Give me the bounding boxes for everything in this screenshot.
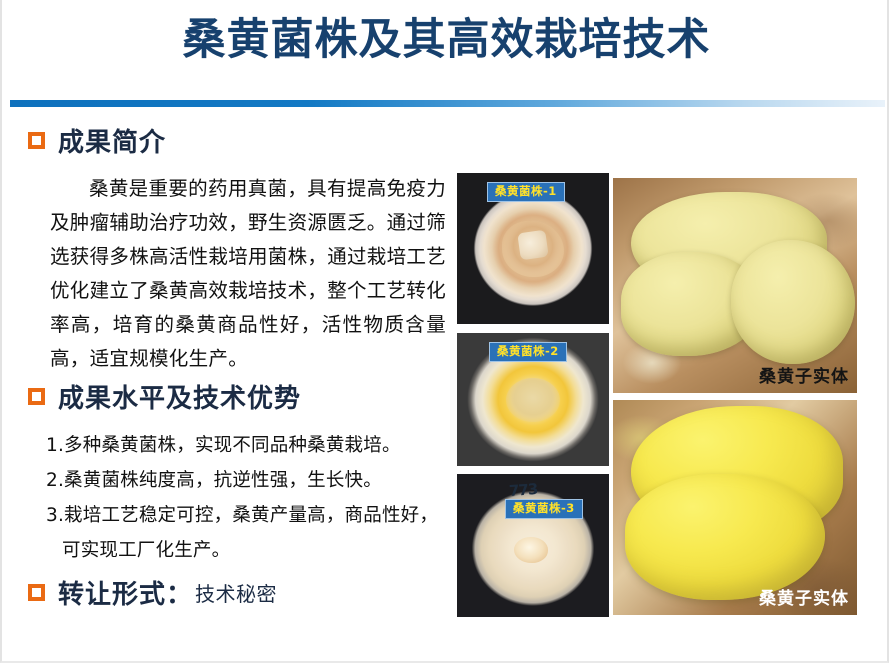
photo-fruiting-body-1-image [613, 178, 857, 393]
section-heading-intro-label: 成果简介 [58, 122, 166, 159]
slide-header: 桑黄菌株及其高效栽培技术 [2, 0, 889, 100]
fruiting-lobe [631, 406, 843, 538]
list-item: 3.栽培工艺稳定可控，桑黄产量高，商品性好，可实现工厂化生产。 [46, 498, 446, 568]
photo-strain-3: 773 桑黄菌株-3 [457, 474, 609, 617]
photo-strain-1-tag: 桑黄菌株-1 [487, 182, 565, 202]
section-heading-transfer-label: 转让形式： [58, 574, 193, 611]
photo-fruiting-body-2: 桑黄子实体 [613, 400, 857, 615]
fruiting-lobe [731, 240, 855, 364]
list-item: 1.多种桑黄菌株，实现不同品种桑黄栽培。 [46, 428, 446, 463]
photo-strain-2: 桑黄菌株-2 [457, 333, 609, 466]
colony-core [514, 537, 548, 563]
photo-strain-3-image: 773 [457, 474, 609, 617]
square-bullet-icon [28, 132, 45, 149]
transfer-value: 技术秘密 [195, 578, 277, 607]
section-heading-intro: 成果简介 [28, 122, 166, 159]
slide-canvas: 桑黄菌株及其高效栽培技术 成果简介 桑黄是重要的药用真菌，具有提高免疫力及肿瘤辅… [0, 0, 889, 663]
fruiting-lobe [625, 474, 825, 600]
colony-ring [506, 378, 560, 422]
intro-paragraph: 桑黄是重要的药用真菌，具有提高免疫力及肿瘤辅助治疗功效，野生资源匮乏。通过筛选获… [50, 172, 446, 376]
advantage-list: 1.多种桑黄菌株，实现不同品种桑黄栽培。 2.桑黄菌株纯度高，抗逆性强，生长快。… [46, 428, 446, 568]
photo-fruiting-body-2-image [613, 400, 857, 615]
colony-ring [502, 221, 564, 277]
section-heading-advantage-label: 成果水平及技术优势 [58, 378, 301, 415]
page-title: 桑黄菌株及其高效栽培技术 [2, 14, 889, 68]
section-heading-advantage: 成果水平及技术优势 [28, 378, 301, 415]
square-bullet-icon [28, 584, 45, 601]
section-heading-transfer: 转让形式： 技术秘密 [28, 574, 277, 611]
photo-strain-3-tag: 桑黄菌株-3 [505, 499, 583, 519]
photo-fruiting-body-2-caption: 桑黄子实体 [759, 584, 849, 609]
square-bullet-icon [28, 388, 45, 405]
photo-fruiting-body-1: 桑黄子实体 [613, 178, 857, 393]
list-item: 2.桑黄菌株纯度高，抗逆性强，生长快。 [46, 463, 446, 498]
photo-strain-1-image [457, 173, 609, 324]
photo-fruiting-body-1-caption: 桑黄子实体 [759, 362, 849, 387]
colony-core [517, 230, 548, 261]
photo-strain-1: 桑黄菌株-1 [457, 173, 609, 324]
dish-handwritten-label: 773 [508, 480, 537, 500]
photo-strain-2-tag: 桑黄菌株-2 [489, 342, 567, 362]
fruiting-lobe [621, 252, 763, 356]
fruiting-lobe [631, 192, 827, 298]
photo-strain-2-image [457, 333, 609, 466]
content-left-column: 成果简介 桑黄是重要的药用真菌，具有提高免疫力及肿瘤辅助治疗功效，野生资源匮乏。… [2, 110, 452, 663]
title-divider [10, 100, 885, 107]
